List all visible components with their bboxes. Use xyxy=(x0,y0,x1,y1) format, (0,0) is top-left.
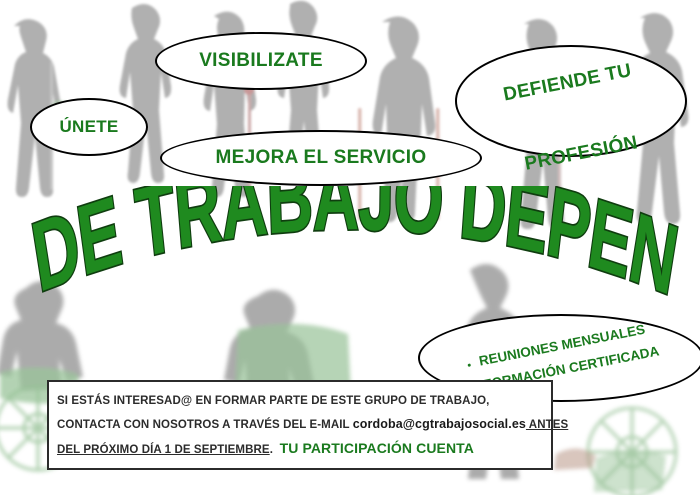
bubble-defiende-label: DEFIENDE TU PROFESIÓN xyxy=(493,18,648,185)
deadline-text: DEL PRÓXIMO DÍA 1 DE SEPTIEMBRE xyxy=(57,444,270,456)
info-line-2-prefix: CONTACTA CON NOSOTROS A TRAVÉS DEL E-MAI… xyxy=(57,419,353,431)
bubble-mejora-label: MEJORA EL SERVICIO xyxy=(216,145,427,171)
bubble-visibilizate-label: VISIBILIZATE xyxy=(199,48,323,74)
info-line-3: DEL PRÓXIMO DÍA 1 DE SEPTIEMBRE. TU PART… xyxy=(57,437,543,462)
bubble-unete: ÚNETE xyxy=(30,98,148,156)
poster-canvas: GRUPO DE TRABAJO DEPENDENCIA ÚNETE VISIB… xyxy=(0,0,700,495)
bubble-mejora-el-servicio: MEJORA EL SERVICIO xyxy=(160,130,482,186)
contact-email[interactable]: cordoba@cgtrabajosocial.es xyxy=(353,417,526,431)
info-line-2: CONTACTA CON NOSOTROS A TRAVÉS DEL E-MAI… xyxy=(57,413,543,437)
info-line-1: SI ESTÁS INTERESAD@ EN FORMAR PARTE DE E… xyxy=(57,390,543,413)
call-to-action: TU PARTICIPACIÓN CUENTA xyxy=(280,440,474,456)
bubble-unete-label: ÚNETE xyxy=(59,116,118,139)
bubble-visibilizate: VISIBILIZATE xyxy=(155,32,367,90)
bubble-defiende-tu-profesion: DEFIENDE TU PROFESIÓN xyxy=(455,45,687,157)
deadline-period: . xyxy=(270,444,273,456)
bubble-defiende-line1: DEFIENDE TU xyxy=(502,60,634,105)
info-line-2-suffix: ANTES xyxy=(526,419,568,431)
contact-info-box: SI ESTÁS INTERESAD@ EN FORMAR PARTE DE E… xyxy=(47,380,553,470)
